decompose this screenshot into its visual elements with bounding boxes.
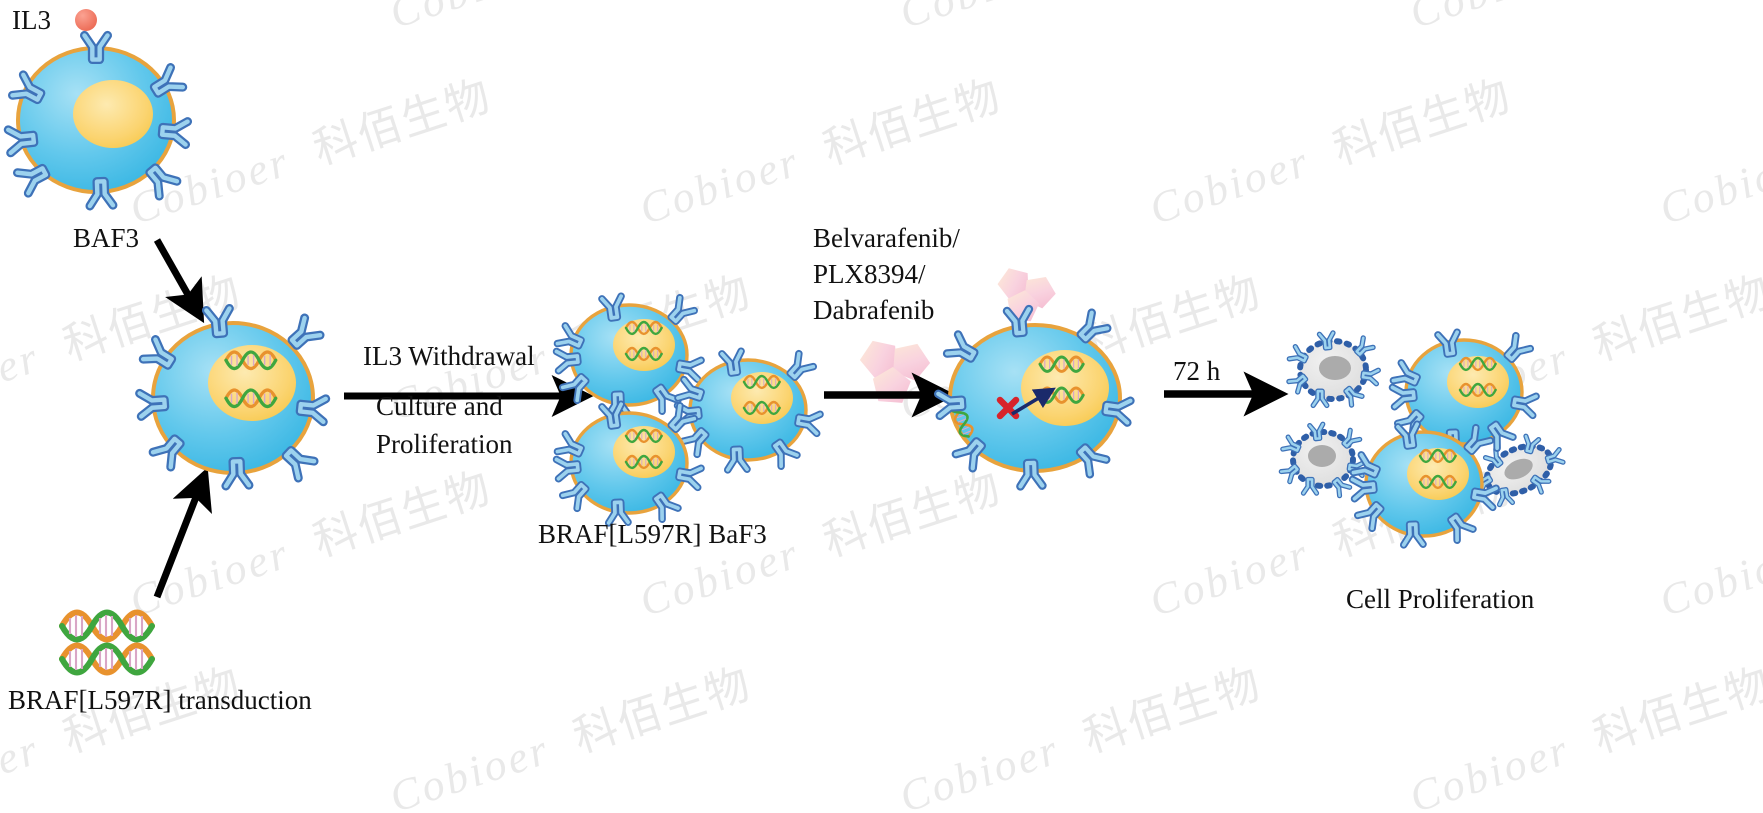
label-culture-line1: Culture and: [376, 390, 503, 423]
nucleus: [1407, 448, 1469, 500]
nucleus: [613, 426, 675, 478]
label-culture-line2: Proliferation: [376, 428, 512, 461]
label-drug-line2: PLX8394/: [813, 258, 926, 291]
diagram-canvas: Cobioer 科佰生物Cobioer 科佰生物Cobioer 科佰生物Cobi…: [0, 0, 1763, 813]
nucleus: [1447, 356, 1509, 408]
nucleus: [731, 372, 793, 424]
cell-survivor-2: [1352, 424, 1496, 545]
apoptotic-cell-1: [1289, 333, 1378, 406]
label-baf3: BAF3: [73, 222, 139, 255]
label-cell-proliferation: Cell Proliferation: [1346, 583, 1534, 616]
label-72h: 72 h: [1173, 355, 1220, 388]
arrow-baf3-to-transduced: [157, 240, 191, 300]
label-drug-line1: Belvarafenib/: [813, 222, 960, 255]
label-braf-baf3: BRAF[L597R] BaF3: [538, 518, 767, 551]
cell-baf3-parental: [8, 35, 187, 206]
cell-braf-transduced: [140, 308, 326, 486]
condensed-nucleus: [1319, 356, 1351, 380]
cell-proliferating-3: [677, 351, 820, 470]
nucleus: [613, 319, 675, 371]
label-il3-withdrawal: IL3 Withdrawal: [363, 340, 535, 373]
cell-drug-treated: [938, 309, 1130, 486]
label-drug-line3: Dabrafenib: [813, 294, 934, 327]
label-il3: IL3: [12, 4, 51, 37]
dna-transduction-construct: [62, 613, 152, 673]
label-braf-transduction: BRAF[L597R] transduction: [8, 684, 312, 717]
cell-proliferating-2: [556, 404, 701, 523]
apoptotic-cell-2: [1281, 424, 1364, 496]
il3-ligand-icon: [75, 9, 97, 31]
nucleus: [73, 80, 153, 148]
condensed-nucleus: [1308, 445, 1336, 467]
arrow-dna-to-cell: [157, 492, 198, 597]
nucleus: [208, 345, 296, 421]
